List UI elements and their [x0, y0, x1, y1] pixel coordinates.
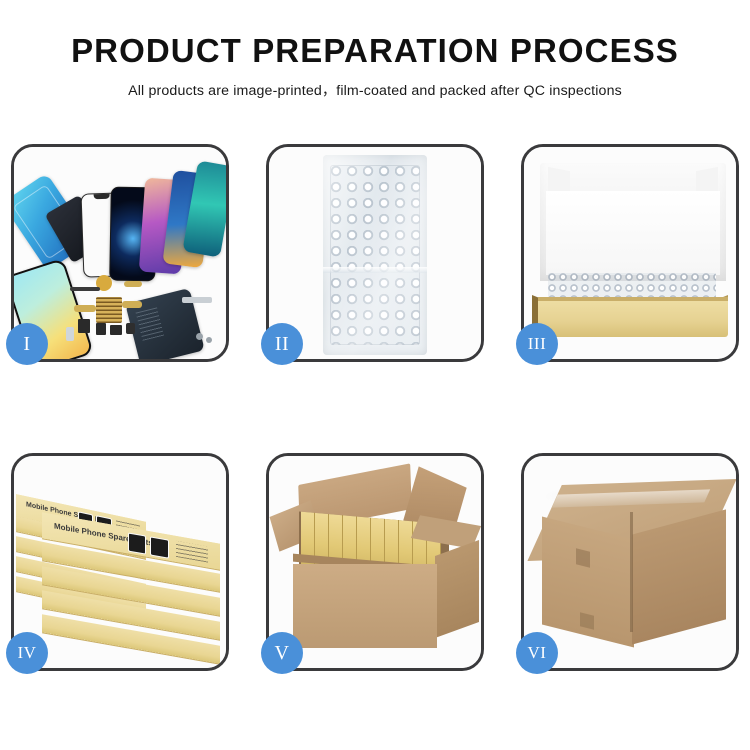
infographic-page: PRODUCT PREPARATION PROCESS All products…: [0, 0, 750, 750]
screw-icon: [196, 333, 203, 340]
step-4-image: Mobile Phone Spare Parts Mobile Phone Sp…: [14, 456, 226, 668]
bubble-wrap-pouch-icon: [323, 155, 427, 355]
tweezers-icon: [182, 297, 212, 303]
carton-front-panel: [293, 564, 437, 648]
ic-chip-icon: [96, 323, 106, 335]
power-flex-icon: [74, 305, 96, 312]
phone-image: [128, 532, 146, 554]
volume-flex-icon: [122, 301, 142, 308]
step-6-image: [524, 456, 736, 668]
carton-side-panel: [632, 509, 726, 644]
step-1-image: [14, 147, 226, 359]
step-badge-4: IV: [6, 632, 48, 674]
step-panel-5: V: [266, 453, 484, 671]
flex-cable-icon: [124, 281, 142, 287]
foam-liner-icon: [546, 191, 720, 275]
phone-parts-scene: [14, 147, 226, 359]
carton-side-panel: [435, 540, 479, 638]
phone-image: [150, 536, 169, 558]
step-panel-1: I: [11, 144, 229, 362]
connector-icon: [126, 323, 135, 334]
step-badge-1: I: [6, 323, 48, 365]
step-2-image: [269, 147, 481, 359]
step-badge-6: VI: [516, 632, 558, 674]
header: PRODUCT PREPARATION PROCESS All products…: [0, 34, 750, 100]
carton-tab: [576, 548, 590, 567]
process-grid: I II: [0, 140, 750, 685]
step-badge-3: III: [516, 323, 558, 365]
box-front-edge: [538, 297, 728, 301]
earpiece-mesh-icon: [70, 287, 100, 291]
step-3-image: [524, 147, 736, 359]
step-badge-5: V: [261, 632, 303, 674]
camera-module-icon: [78, 319, 90, 333]
carton-corner-seam: [630, 512, 633, 632]
pouch-sheen: [323, 155, 427, 355]
page-title: PRODUCT PREPARATION PROCESS: [0, 34, 750, 69]
page-subtitle: All products are image-printed，film-coat…: [0, 80, 750, 100]
screw-icon: [206, 337, 212, 343]
kraft-box-front-icon: [538, 297, 728, 337]
step-badge-2: II: [261, 323, 303, 365]
step-panel-4: Mobile Phone Spare Parts Mobile Phone Sp…: [11, 453, 229, 671]
sim-tray-icon: [66, 327, 74, 341]
mesh-screen-icon: [96, 297, 122, 323]
step-panel-6: VI: [521, 453, 739, 671]
vibrator-icon: [110, 325, 122, 335]
retail-box-stack-icon: Mobile Phone Spare Parts Mobile Phone Sp…: [14, 470, 226, 662]
step-panel-2: II: [266, 144, 484, 362]
step-panel-3: III: [521, 144, 739, 362]
step-5-image: [269, 456, 481, 668]
